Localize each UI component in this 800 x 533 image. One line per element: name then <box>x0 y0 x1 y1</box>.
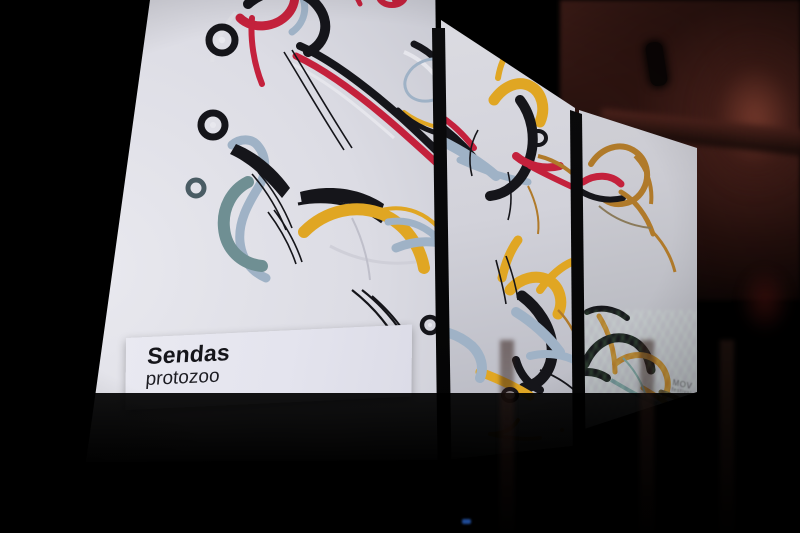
projection-room-photo: Sendas protozoo MOV festival <box>0 0 800 533</box>
room-pillar <box>500 340 514 530</box>
blue-led-indicator <box>462 519 471 524</box>
dark-foreground <box>0 393 800 533</box>
ring-motif-mid <box>201 113 225 137</box>
room-pillar <box>720 340 734 530</box>
room-pillar <box>640 340 654 530</box>
ring-motif-lower <box>422 317 438 333</box>
